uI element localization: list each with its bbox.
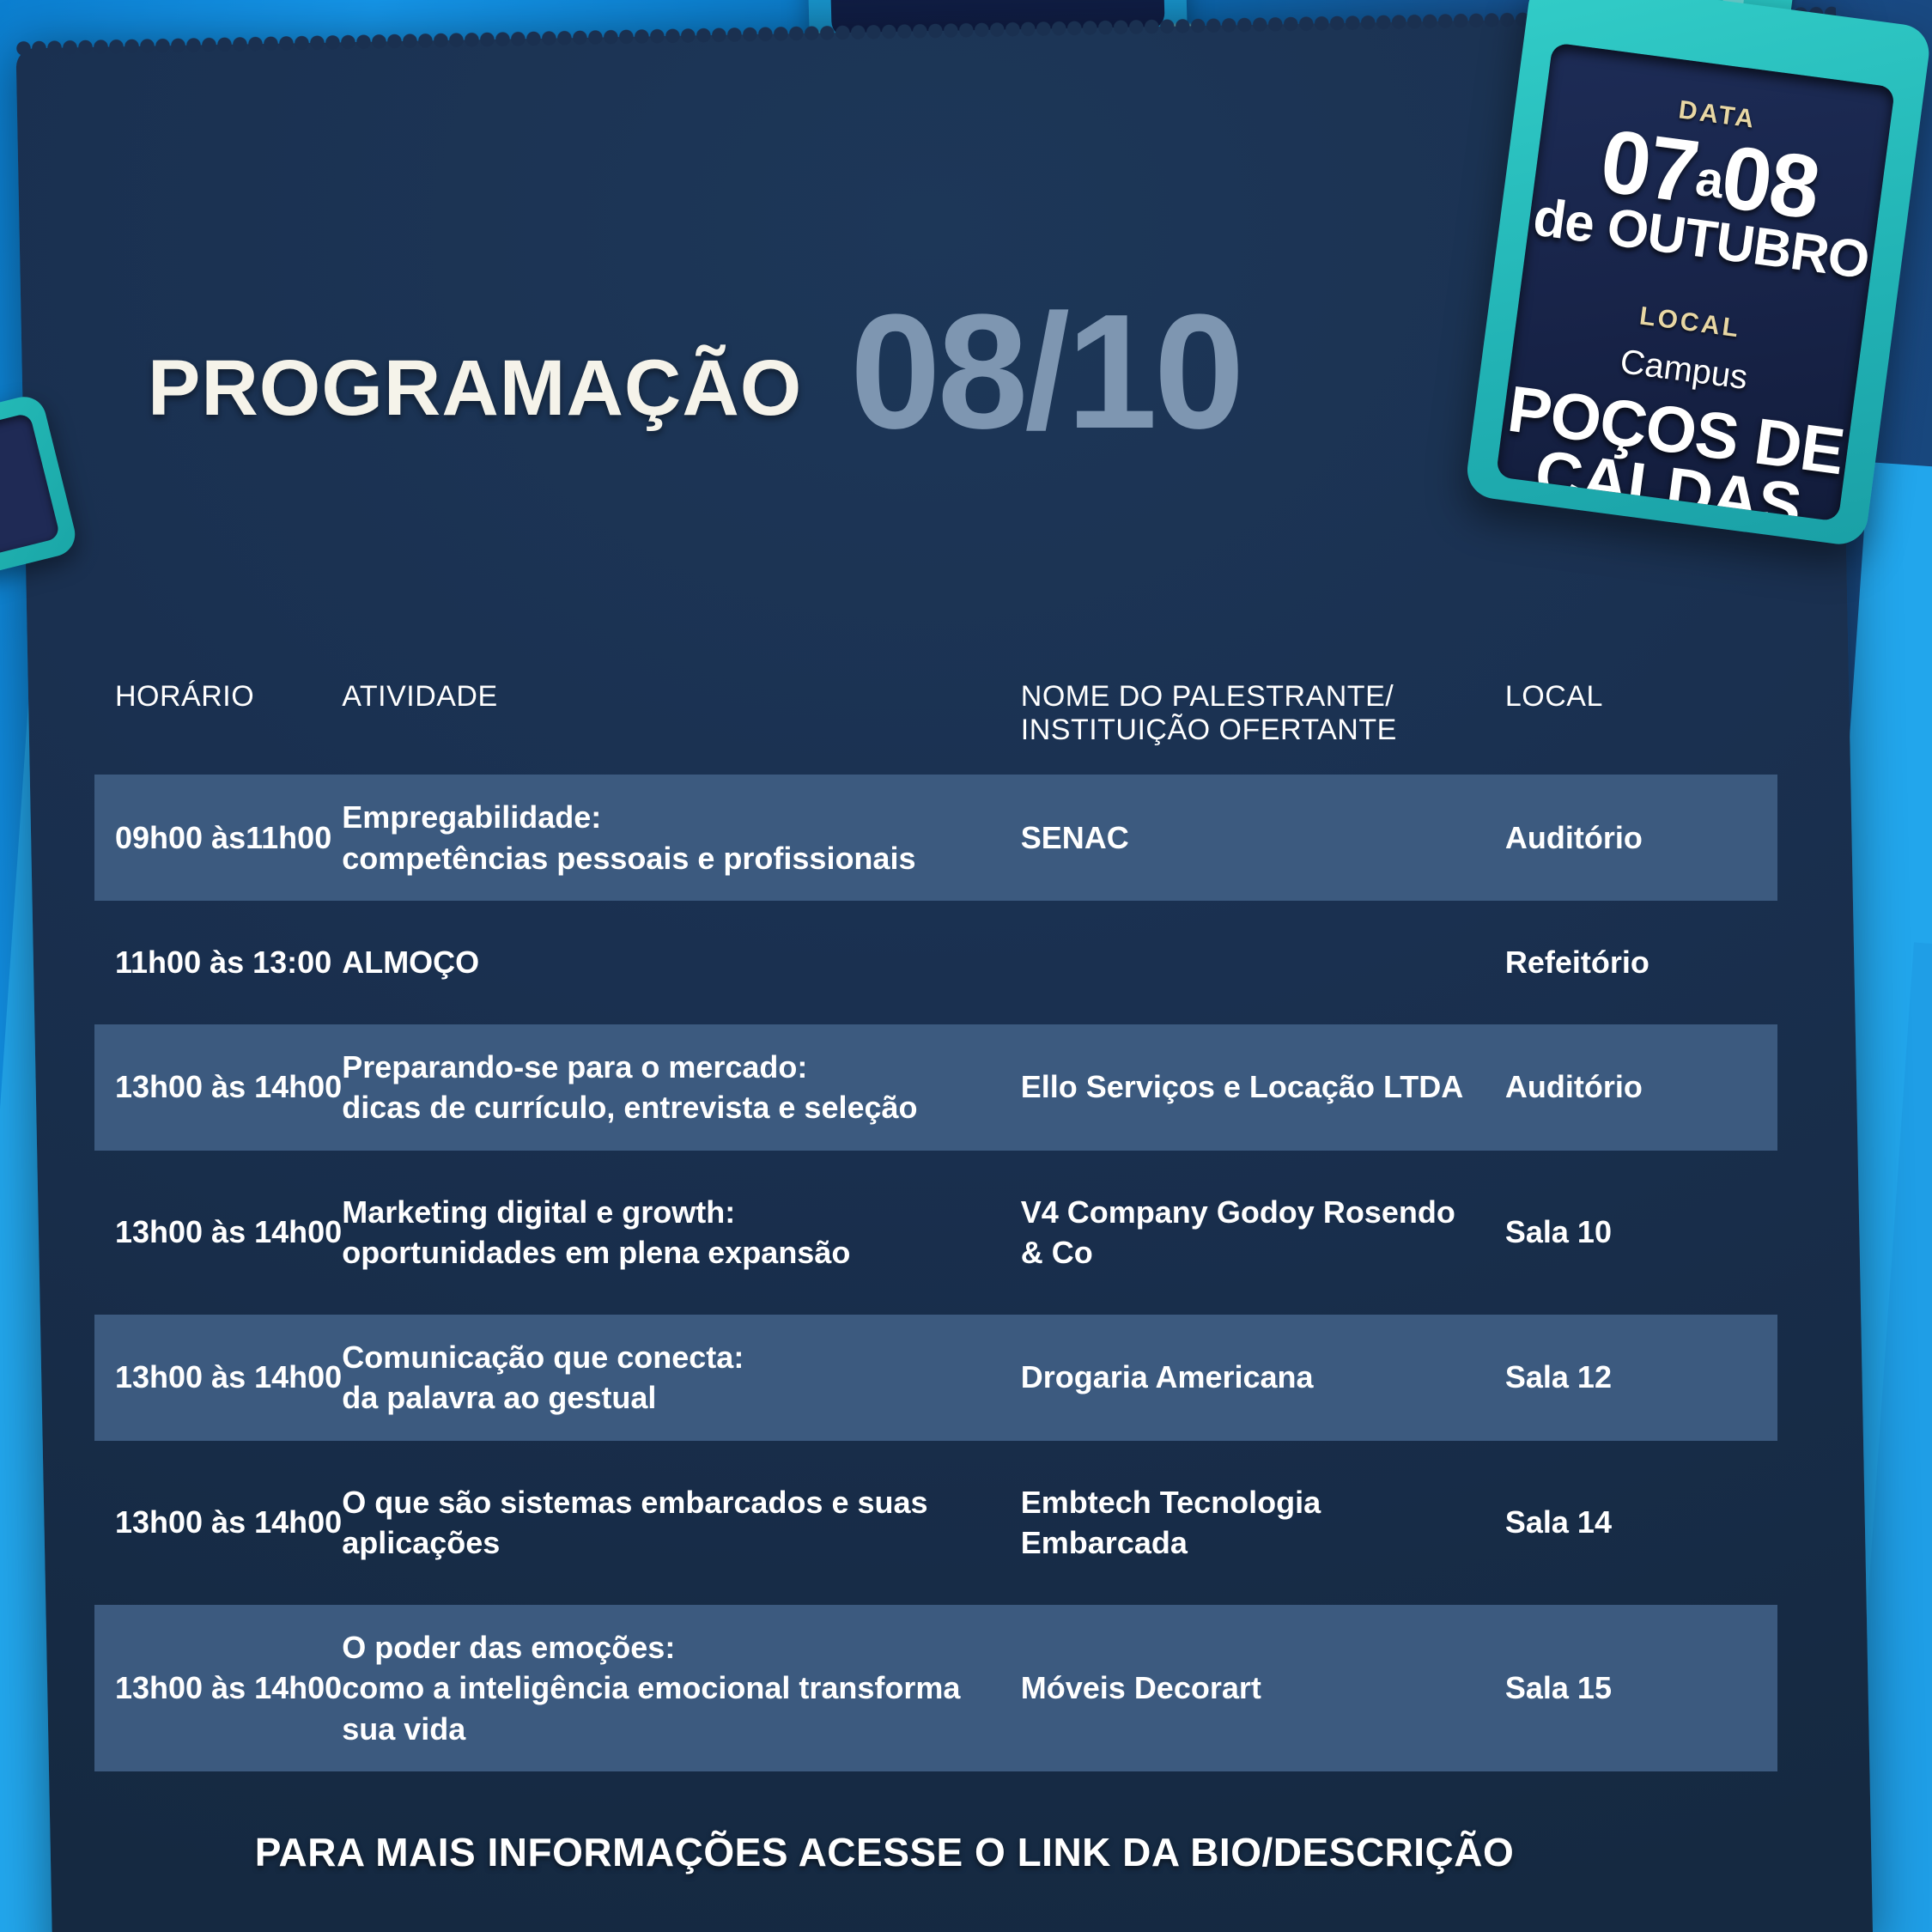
- cell-activity-line: Comunicação que conecta:: [342, 1337, 1021, 1378]
- column-header-speaker-label: NOME DO PALESTRANTE/: [1021, 680, 1394, 713]
- cell-local: Sala 14: [1505, 1460, 1777, 1586]
- cell-time: 13h00 às 14h00: [94, 1315, 342, 1441]
- table-row: 09h00 às11h00Empregabilidade:competência…: [94, 775, 1777, 901]
- cell-speaker: V4 Company Godoy Rosendo& Co: [1021, 1170, 1505, 1296]
- column-header-activity-label: ATIVIDADE: [342, 680, 497, 713]
- cell-activity: Empregabilidade:competências pessoais e …: [342, 775, 1021, 901]
- column-header-local: LOCAL: [1505, 680, 1777, 756]
- page-title: PROGRAMAÇÃO: [148, 343, 802, 434]
- cell-time: 09h00 às11h00: [94, 775, 342, 901]
- table-row: 13h00 às 14h00O que são sistemas embarca…: [94, 1460, 1777, 1586]
- column-header-local-label: LOCAL: [1505, 680, 1603, 713]
- column-header-activity: ATIVIDADE: [342, 680, 1021, 756]
- cell-activity-line: aplicações: [342, 1522, 1021, 1564]
- cell-time: 13h00 às 14h00: [94, 1460, 342, 1586]
- cell-local: Sala 10: [1505, 1170, 1777, 1296]
- cell-speaker: Embtech TecnologiaEmbarcada: [1021, 1460, 1505, 1586]
- footer-note: PARA MAIS INFORMAÇÕES ACESSE O LINK DA B…: [0, 1829, 1769, 1875]
- cell-local: Sala 15: [1505, 1605, 1777, 1772]
- schedule-table-head: HORÁRIO ATIVIDADE NOME DO PALESTRANTE/ I…: [94, 680, 1777, 756]
- main-content: PROGRAMAÇÃO 08/10 HORÁRIO ATIVIDADE NOME…: [0, 0, 1932, 1932]
- cell-activity-line: dicas de currículo, entrevista e seleção: [342, 1087, 1021, 1128]
- cell-local: Sala 12: [1505, 1315, 1777, 1441]
- cell-activity: O que são sistemas embarcados e suasapli…: [342, 1460, 1021, 1586]
- cell-speaker-line: Embtech Tecnologia: [1021, 1482, 1505, 1523]
- cell-activity: Preparando-se para o mercado:dicas de cu…: [342, 1024, 1021, 1151]
- cell-speaker-line: Embarcada: [1021, 1522, 1505, 1564]
- cell-local: Auditório: [1505, 1024, 1777, 1151]
- cell-speaker-line: & Co: [1021, 1232, 1505, 1273]
- cell-activity-line: oportunidades em plena expansão: [342, 1232, 1021, 1273]
- cell-speaker-line: Móveis Decorart: [1021, 1668, 1505, 1709]
- cell-activity-line: como a inteligência emocional transforma: [342, 1668, 1021, 1709]
- schedule-table-body: 09h00 às11h00Empregabilidade:competência…: [94, 775, 1777, 1771]
- column-header-speaker-sublabel: INSTITUIÇÃO OFERTANTE: [1021, 714, 1505, 747]
- cell-speaker-line: Ello Serviços e Locação LTDA: [1021, 1066, 1505, 1108]
- table-row: 11h00 às 13:00ALMOÇORefeitório: [94, 920, 1777, 1005]
- cell-activity-line: competências pessoais e profissionais: [342, 838, 1021, 879]
- cell-time: 13h00 às 14h00: [94, 1605, 342, 1772]
- cell-activity-line: sua vida: [342, 1709, 1021, 1750]
- schedule-table: HORÁRIO ATIVIDADE NOME DO PALESTRANTE/ I…: [94, 661, 1777, 1790]
- day-indicator: 08/10: [850, 290, 1241, 453]
- cell-activity-line: Preparando-se para o mercado:: [342, 1047, 1021, 1088]
- cell-speaker-line: Drogaria Americana: [1021, 1357, 1505, 1398]
- column-header-speaker: NOME DO PALESTRANTE/ INSTITUIÇÃO OFERTAN…: [1021, 680, 1505, 756]
- cell-speaker-line: SENAC: [1021, 817, 1505, 859]
- cell-time: 11h00 às 13:00: [94, 920, 342, 1005]
- cell-activity-line: Empregabilidade:: [342, 797, 1021, 838]
- cell-activity: ALMOÇO: [342, 920, 1021, 1005]
- table-row: 13h00 às 14h00Marketing digital e growth…: [94, 1170, 1777, 1296]
- cell-activity-line: O poder das emoções:: [342, 1627, 1021, 1668]
- table-row: 13h00 às 14h00Comunicação que conecta:da…: [94, 1315, 1777, 1441]
- cell-activity: Marketing digital e growth:oportunidades…: [342, 1170, 1021, 1296]
- cell-activity-line: ALMOÇO: [342, 942, 1021, 983]
- cell-activity-line: Marketing digital e growth:: [342, 1192, 1021, 1233]
- cell-speaker: [1021, 920, 1505, 1005]
- cell-speaker: Móveis Decorart: [1021, 1605, 1505, 1772]
- table-header-row: HORÁRIO ATIVIDADE NOME DO PALESTRANTE/ I…: [94, 680, 1777, 756]
- cell-speaker: Drogaria Americana: [1021, 1315, 1505, 1441]
- cell-activity: O poder das emoções:como a inteligência …: [342, 1605, 1021, 1772]
- cell-time: 13h00 às 14h00: [94, 1024, 342, 1151]
- table-row: 13h00 às 14h00Preparando-se para o merca…: [94, 1024, 1777, 1151]
- cell-speaker: SENAC: [1021, 775, 1505, 901]
- cell-activity: Comunicação que conecta:da palavra ao ge…: [342, 1315, 1021, 1441]
- column-header-time: HORÁRIO: [94, 680, 342, 756]
- cell-speaker-line: V4 Company Godoy Rosendo: [1021, 1192, 1505, 1233]
- cell-activity-line: O que são sistemas embarcados e suas: [342, 1482, 1021, 1523]
- table-row: 13h00 às 14h00O poder das emoções:como a…: [94, 1605, 1777, 1772]
- cell-local: Refeitório: [1505, 920, 1777, 1005]
- cell-local: Auditório: [1505, 775, 1777, 901]
- cell-speaker: Ello Serviços e Locação LTDA: [1021, 1024, 1505, 1151]
- title-row: PROGRAMAÇÃO 08/10: [0, 343, 1932, 464]
- column-header-time-label: HORÁRIO: [115, 680, 254, 713]
- cell-activity-line: da palavra ao gestual: [342, 1377, 1021, 1419]
- cell-time: 13h00 às 14h00: [94, 1170, 342, 1296]
